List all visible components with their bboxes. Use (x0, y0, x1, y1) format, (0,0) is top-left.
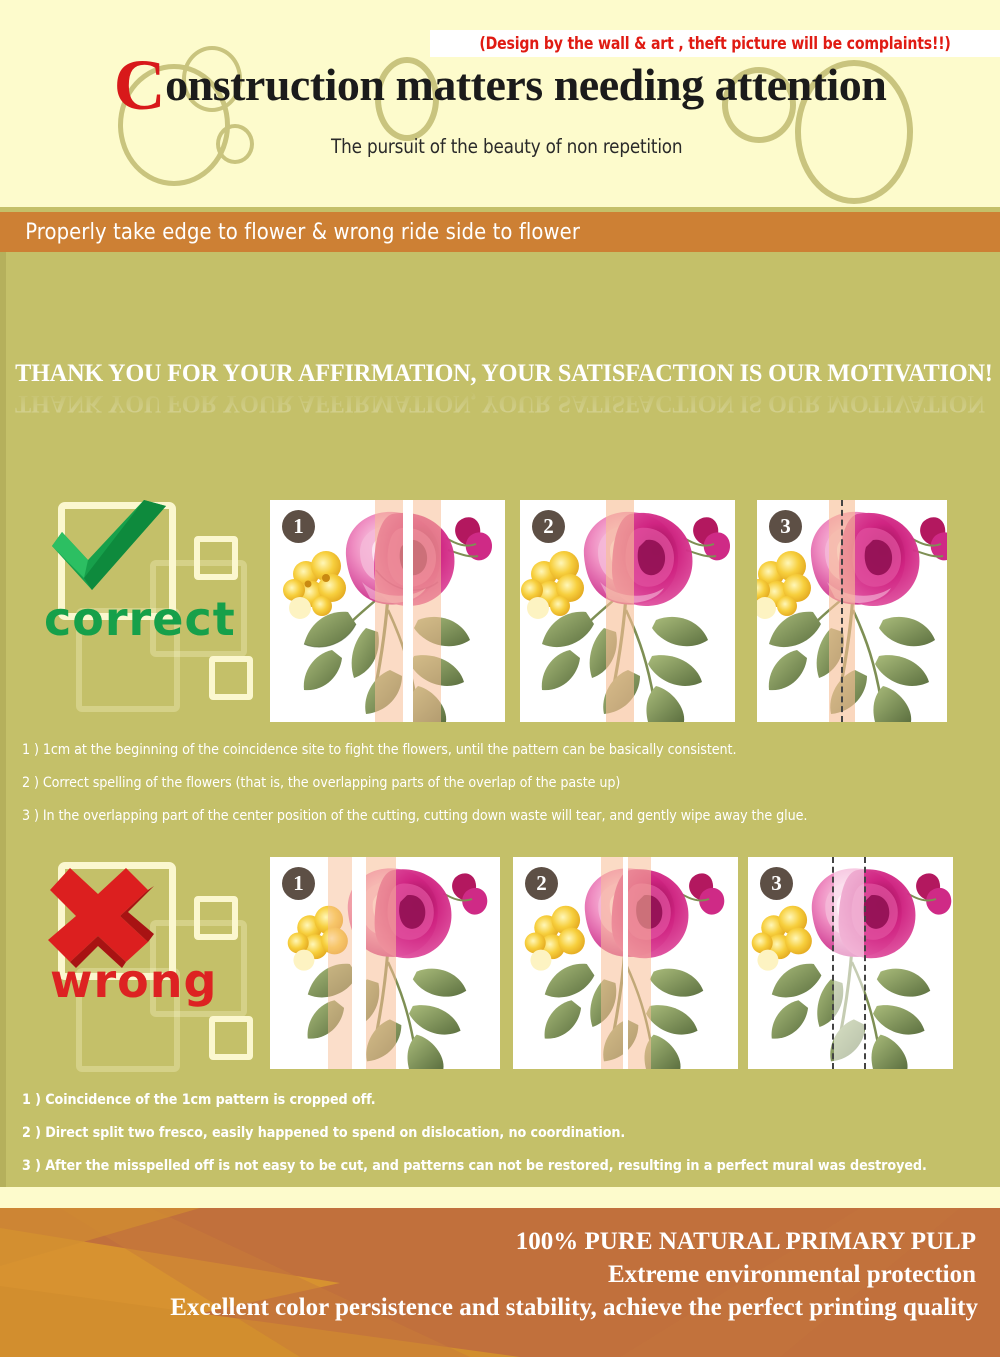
poster-root: (Design by the wall & art , theft pictur… (0, 0, 1000, 1357)
panel-badge: 2 (532, 510, 565, 543)
section-heading-bar: Properly take edge to flower & wrong rid… (0, 212, 1000, 252)
panel-badge: 1 (282, 510, 315, 543)
page-title: Construction matters needing attention (0, 60, 1000, 110)
correct-panel-1: 1 (270, 500, 505, 722)
sheet-gap (403, 500, 413, 722)
correct-instructions: 1 ) 1cm at the beginning of the coincide… (22, 742, 982, 841)
list-item: 3 ) After the misspelled off is not easy… (22, 1158, 963, 1174)
wrong-panel-1: 1 (270, 857, 500, 1069)
correct-panel-3: 3 (757, 500, 947, 722)
panel-badge: 3 (760, 867, 793, 900)
overlap-margin-left (328, 857, 352, 1069)
wrong-label: wrong (50, 954, 280, 1008)
footer-line-3: Excellent color persistence and stabilit… (18, 1294, 978, 1322)
decor-square (194, 536, 238, 580)
body-content: THANK YOU FOR YOUR AFFIRMATION, YOUR SAT… (0, 252, 1000, 1187)
footer-line-1: 100% PURE NATURAL PRIMARY PULP (16, 1228, 976, 1256)
wrong-panel-2: 2 (513, 857, 738, 1069)
overlap-margin (606, 500, 634, 722)
overlap-margin-right (366, 857, 396, 1069)
thank-you-text: THANK YOU FOR YOUR AFFIRMATION, YOUR SAT… (15, 360, 993, 388)
decor-square (209, 656, 253, 700)
list-item: 1 ) 1cm at the beginning of the coincide… (22, 742, 963, 758)
left-edge-strip (0, 252, 6, 1187)
wrong-instructions: 1 ) Coincidence of the 1cm pattern is cr… (22, 1092, 982, 1187)
footer-banner: 100% PURE NATURAL PRIMARY PULP Extreme e… (0, 1208, 1000, 1357)
correct-panel-2: 2 (520, 500, 735, 722)
footer-divider (0, 1187, 1000, 1208)
copyright-notice-text: (Design by the wall & art , theft pictur… (479, 34, 950, 53)
title-rest: onstruction matters needing attention (165, 59, 886, 110)
duplicated-strip (834, 857, 864, 1069)
section-heading-text: Properly take edge to flower & wrong rid… (0, 219, 580, 245)
copyright-notice-strip: (Design by the wall & art , theft pictur… (430, 30, 1000, 57)
panel-badge: 3 (769, 510, 802, 543)
panel-badge: 1 (282, 867, 315, 900)
overlap-margin-left (601, 857, 623, 1069)
cut-line-icon (864, 857, 866, 1069)
overlap-margin-right (627, 857, 651, 1069)
wrong-panel-3: 3 (748, 857, 953, 1069)
list-item: 2 ) Correct spelling of the flowers (tha… (22, 775, 963, 791)
panel-badge: 2 (525, 867, 558, 900)
thank-you-reflection: THANK YOU FOR YOUR AFFIRMATION, YOUR SAT… (15, 389, 985, 417)
title-dropcap: C (114, 45, 166, 125)
cut-line-icon (832, 857, 834, 1069)
overlap-margin-right (413, 500, 441, 722)
decor-square (194, 896, 238, 940)
cut-line-icon (841, 500, 843, 722)
decor-square (209, 1016, 253, 1060)
sheet-gap (352, 857, 366, 1069)
correct-label: correct (44, 592, 274, 646)
wrong-mark-block: wrong (34, 858, 284, 1078)
list-item: 2 ) Direct split two fresco, easily happ… (22, 1125, 963, 1141)
sheet-gap (623, 857, 628, 1069)
overlap-margin-left (375, 500, 403, 722)
correct-mark-block: correct (34, 498, 284, 718)
list-item: 3 ) In the overlapping part of the cente… (22, 808, 963, 824)
thank-you-banner: THANK YOU FOR YOUR AFFIRMATION, YOUR SAT… (0, 360, 1000, 417)
page-subtitle: The pursuit of the beauty of non repetit… (20, 135, 980, 158)
footer-line-2: Extreme environmental protection (16, 1261, 976, 1289)
list-item: 1 ) Coincidence of the 1cm pattern is cr… (22, 1092, 963, 1108)
header-banner: (Design by the wall & art , theft pictur… (0, 0, 1000, 207)
